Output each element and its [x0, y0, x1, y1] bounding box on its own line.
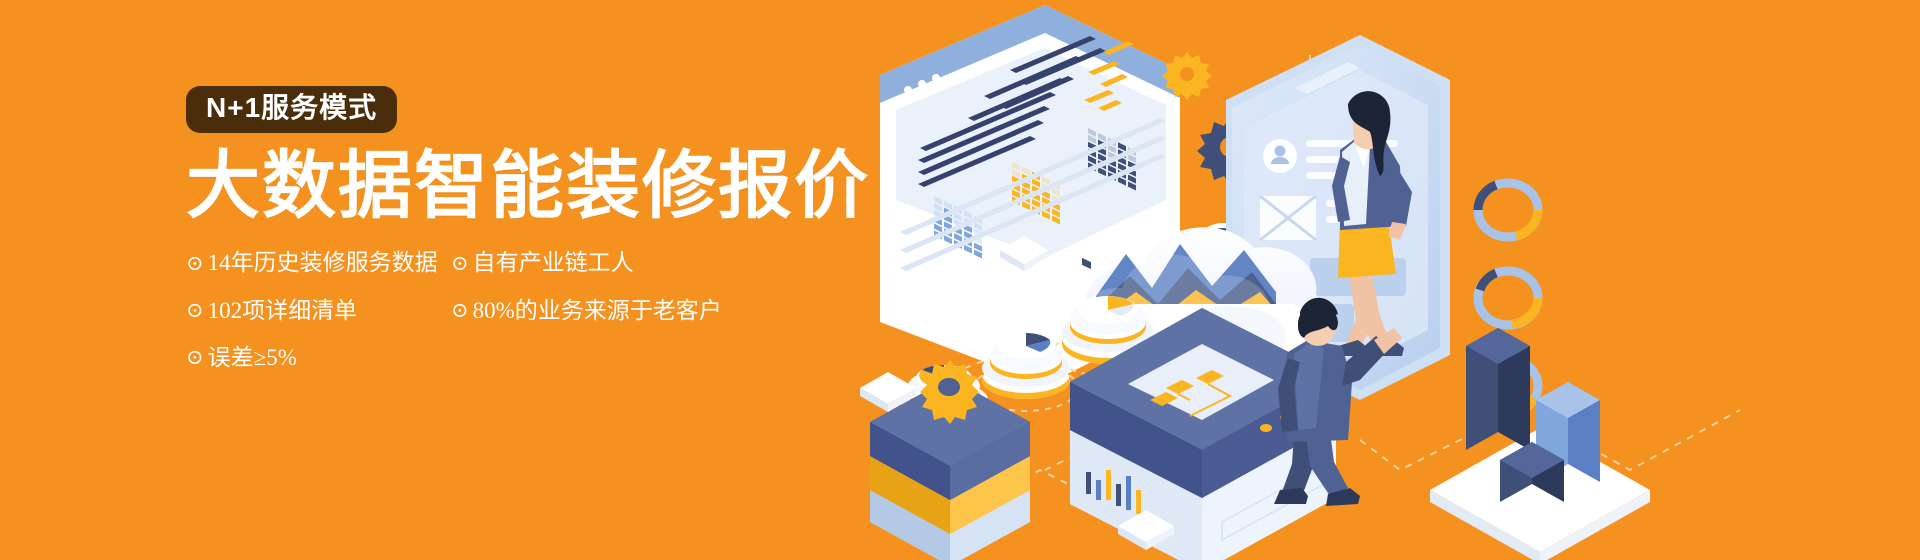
- bullet-icon: ⊙: [186, 347, 204, 368]
- feature-list: ⊙ 14年历史装修服务数据 ⊙ 自有产业链工人 ⊙ 102项详细清单 ⊙ 80%…: [186, 250, 826, 392]
- list-item: ⊙ 80%的业务来源于老客户: [451, 298, 791, 323]
- hero-banner: N+1服务模式 大数据智能装修报价 ⊙ 14年历史装修服务数据 ⊙ 自有产业链工…: [0, 0, 1920, 560]
- list-item-label: 误差≥5%: [208, 345, 297, 370]
- bullet-icon: ⊙: [451, 253, 469, 274]
- list-item: ⊙ 14年历史装修服务数据: [186, 250, 451, 275]
- service-mode-badge: N+1服务模式: [186, 86, 397, 133]
- bar-column-3d: [1430, 328, 1650, 560]
- list-item: ⊙ 误差≥5%: [186, 345, 451, 370]
- bullet-icon: ⊙: [186, 300, 204, 321]
- page-title: 大数据智能装修报价: [186, 147, 886, 225]
- bullet-icon: ⊙: [186, 253, 204, 274]
- list-item-label: 自有产业链工人: [473, 250, 634, 275]
- list-item-label: 80%的业务来源于老客户: [473, 298, 722, 323]
- list-item: ⊙ 自有产业链工人: [451, 250, 791, 275]
- list-item-label: 102项详细清单: [208, 298, 358, 323]
- list-item-label: 14年历史装修服务数据: [208, 250, 438, 275]
- bullet-icon: ⊙: [451, 300, 469, 321]
- isometric-big-data-illustration: [840, 0, 1920, 560]
- text-block: N+1服务模式 大数据智能装修报价 ⊙ 14年历史装修服务数据 ⊙ 自有产业链工…: [186, 86, 886, 392]
- list-item: ⊙ 102项详细清单: [186, 298, 451, 323]
